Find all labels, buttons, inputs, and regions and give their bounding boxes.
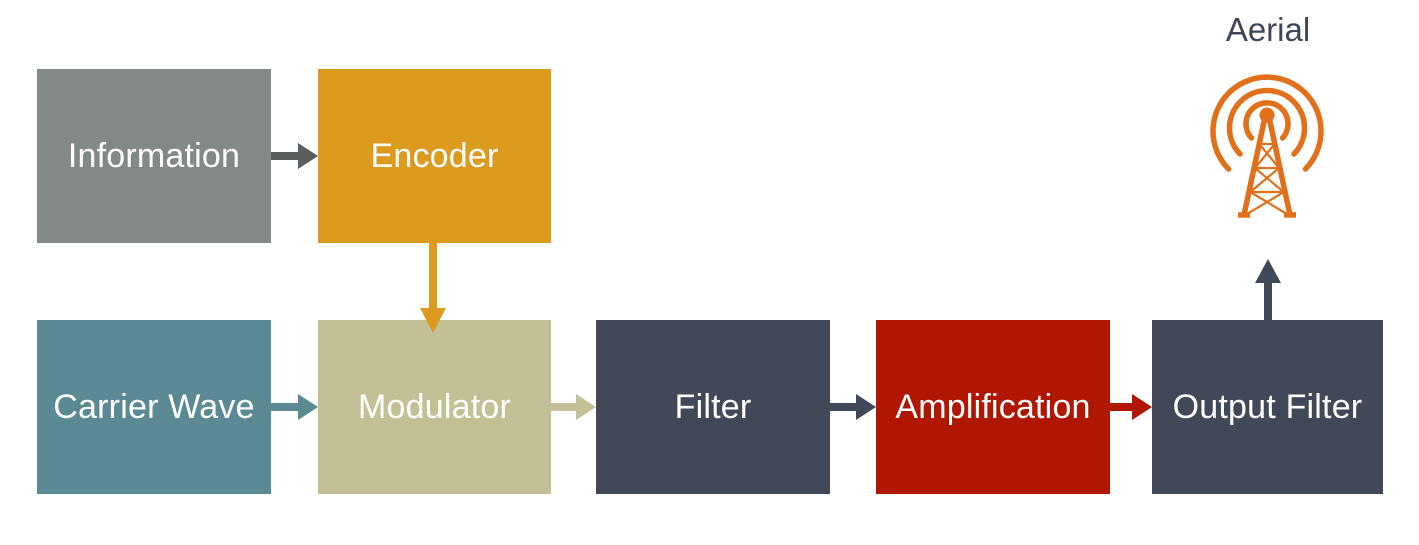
radio-tower-icon <box>1202 72 1332 232</box>
node-label-information: Information <box>68 139 240 173</box>
connector-arrowhead <box>1132 394 1152 420</box>
node-label-encoder: Encoder <box>370 139 498 173</box>
node-label-output-filter: Output Filter <box>1173 390 1363 424</box>
node-filter[interactable]: Filter <box>596 320 830 494</box>
diagram-canvas: Information Encoder Carrier Wave Modulat… <box>0 0 1419 545</box>
connector-shaft <box>830 403 858 411</box>
connector-shaft <box>1264 281 1272 320</box>
connector-shaft <box>271 152 300 160</box>
node-label-carrier-wave: Carrier Wave <box>53 390 254 424</box>
connector-arrowhead <box>298 394 318 420</box>
connector-shaft <box>1110 403 1134 411</box>
node-label-filter: Filter <box>675 390 752 424</box>
node-modulator[interactable]: Modulator <box>318 320 551 494</box>
connector-shaft <box>429 243 437 310</box>
radio-tower-svg <box>1202 72 1332 232</box>
node-label-amplification: Amplification <box>895 390 1090 424</box>
node-output-filter[interactable]: Output Filter <box>1152 320 1383 494</box>
connector-shaft <box>271 403 300 411</box>
node-encoder[interactable]: Encoder <box>318 69 551 243</box>
node-amplification[interactable]: Amplification <box>876 320 1110 494</box>
node-carrier-wave[interactable]: Carrier Wave <box>37 320 271 494</box>
node-label-modulator: Modulator <box>358 390 511 424</box>
aerial-caption: Aerial <box>1138 11 1398 49</box>
antenna-tip <box>1260 108 1275 123</box>
connector-arrowhead <box>420 308 446 333</box>
connector-shaft <box>551 403 578 411</box>
connector-arrowhead <box>1255 259 1281 283</box>
connector-arrowhead <box>298 143 318 169</box>
connector-arrowhead <box>856 394 876 420</box>
connector-arrowhead <box>576 394 596 420</box>
node-information[interactable]: Information <box>37 69 271 243</box>
